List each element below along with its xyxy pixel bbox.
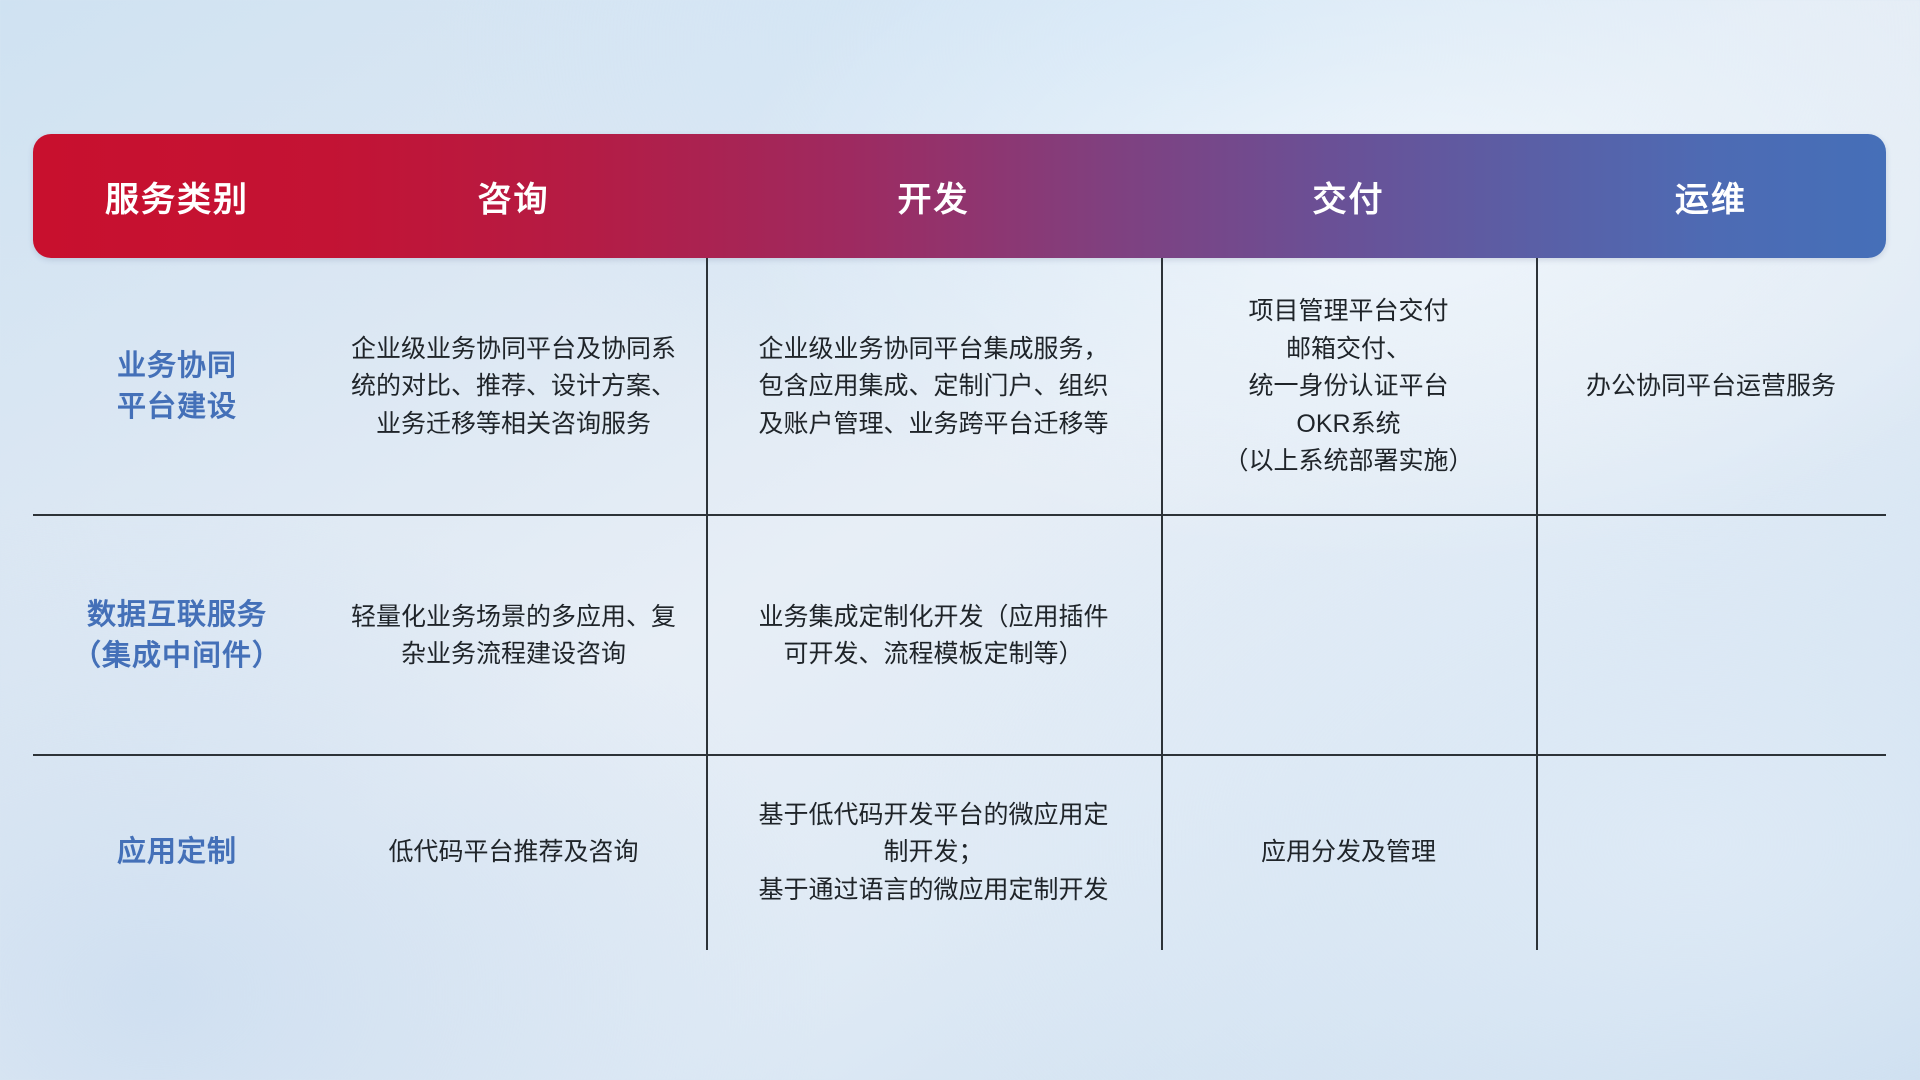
table-row[interactable]: 数据互联服务 （集成中间件） 轻量化业务场景的多应用、复 杂业务流程建设咨询 业… <box>33 516 1886 756</box>
row-label-cell: 业务协同 平台建设 <box>33 258 321 516</box>
cell-consulting: 企业级业务协同平台及协同系 统的对比、推荐、设计方案、 业务迁移等相关咨询服务 <box>321 258 706 516</box>
column-header-delivery: 交付 <box>1161 172 1536 221</box>
table-row[interactable]: 业务协同 平台建设 企业级业务协同平台及协同系 统的对比、推荐、设计方案、 业务… <box>33 258 1886 516</box>
cell-text: 轻量化业务场景的多应用、复 杂业务流程建设咨询 <box>351 599 676 674</box>
cell-development: 业务集成定制化开发（应用插件 可开发、流程模板定制等） <box>706 516 1161 756</box>
cell-development: 基于低代码开发平台的微应用定 制开发； 基于通过语言的微应用定制开发 <box>706 756 1161 950</box>
column-header-development: 开发 <box>706 172 1161 221</box>
cell-delivery: 项目管理平台交付 邮箱交付、 统一身份认证平台 OKR系统 （以上系统部署实施） <box>1161 258 1536 516</box>
cell-text: 业务集成定制化开发（应用插件 可开发、流程模板定制等） <box>758 599 1108 674</box>
column-header-category: 服务类别 <box>33 172 321 221</box>
cell-consulting: 低代码平台推荐及咨询 <box>321 756 706 950</box>
cell-consulting: 轻量化业务场景的多应用、复 杂业务流程建设咨询 <box>321 516 706 756</box>
cell-delivery: 应用分发及管理 <box>1161 756 1536 950</box>
cell-text: 基于低代码开发平台的微应用定 制开发； 基于通过语言的微应用定制开发 <box>758 797 1108 910</box>
cell-text: 项目管理平台交付 邮箱交付、 统一身份认证平台 OKR系统 （以上系统部署实施） <box>1223 293 1473 481</box>
column-header-operations: 运维 <box>1536 172 1886 221</box>
service-matrix-table: 服务类别 咨询 开发 交付 运维 业务协同 平台建设 企业级业务协同平台及协同系… <box>33 134 1886 950</box>
cell-development: 企业级业务协同平台集成服务， 包含应用集成、定制门户、组织 及账户管理、业务跨平… <box>706 258 1161 516</box>
row-label-cell: 应用定制 <box>33 756 321 950</box>
cell-text: 企业级业务协同平台及协同系 统的对比、推荐、设计方案、 业务迁移等相关咨询服务 <box>351 331 676 444</box>
cell-operations <box>1536 516 1886 756</box>
cell-delivery <box>1161 516 1536 756</box>
cell-operations: 办公协同平台运营服务 <box>1536 258 1886 516</box>
cell-text: 办公协同平台运营服务 <box>1586 368 1836 406</box>
row-label-text: 应用定制 <box>117 832 237 873</box>
cell-operations <box>1536 756 1886 950</box>
cell-text: 低代码平台推荐及咨询 <box>388 834 638 872</box>
table-row[interactable]: 应用定制 低代码平台推荐及咨询 基于低代码开发平台的微应用定 制开发； 基于通过… <box>33 756 1886 950</box>
row-label-text: 数据互联服务 （集成中间件） <box>72 595 282 677</box>
table-header-row: 服务类别 咨询 开发 交付 运维 <box>33 134 1886 258</box>
table-body: 业务协同 平台建设 企业级业务协同平台及协同系 统的对比、推荐、设计方案、 业务… <box>33 258 1886 950</box>
cell-text: 企业级业务协同平台集成服务， 包含应用集成、定制门户、组织 及账户管理、业务跨平… <box>758 331 1108 444</box>
cell-text: 应用分发及管理 <box>1261 834 1436 872</box>
column-header-consulting: 咨询 <box>321 172 706 221</box>
row-label-text: 业务协同 平台建设 <box>117 346 237 428</box>
row-label-cell: 数据互联服务 （集成中间件） <box>33 516 321 756</box>
